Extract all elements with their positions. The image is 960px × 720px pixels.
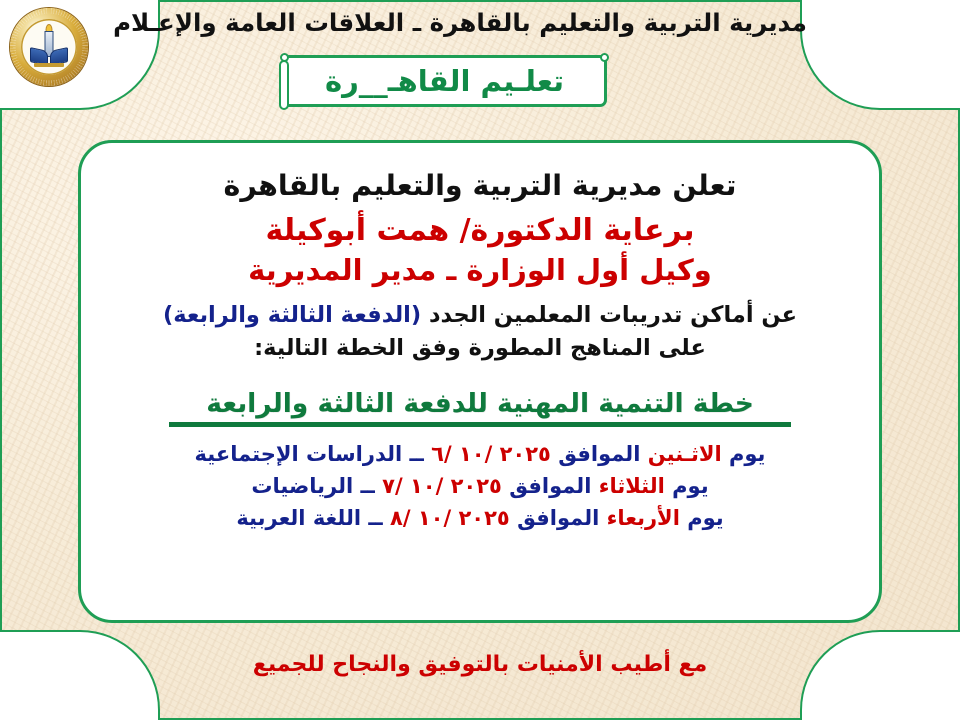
header-strip: مديرية التربية والتعليم بالقاهرة ـ العلا… [0, 0, 960, 58]
emblem-base-bar [34, 63, 64, 67]
plan-heading: خطة التنمية المهنية للدفعة الثالثة والرا… [206, 388, 754, 419]
schedule-row-dash: ــ [368, 506, 382, 530]
page-title: تعلـيم القاهـ__رة [325, 64, 564, 98]
schedule-row: يوم الاثـنين الموافق ٢٠٢٥ /١٠ /٦ ــ الدر… [81, 439, 879, 471]
schedule-row-prefix: يوم [729, 442, 765, 466]
footer-wish-line: مع أطيب الأمنيات بالتوفيق والنجاح للجميع [0, 652, 960, 677]
body-content: تعلن مديرية التربية والتعليم بالقاهرة بر… [81, 169, 879, 535]
schedule-row-subject: الرياضيات [251, 474, 353, 498]
schedule-row-date: ٢٠٢٥ /١٠ /٨ [390, 506, 510, 530]
schedule-row-day: الثلاثاء [599, 474, 665, 498]
content-panel: تعلن مديرية التربية والتعليم بالقاهرة بر… [78, 140, 882, 623]
title-plate: تعلـيم القاهـ__رة [282, 55, 607, 107]
schedule-row-date: ٢٠٢٥ /١٠ /٧ [382, 474, 502, 498]
schedule-list: يوم الاثـنين الموافق ٢٠٢٥ /١٠ /٦ ــ الدر… [81, 439, 879, 535]
announcement-line: تعلن مديرية التربية والتعليم بالقاهرة [81, 169, 879, 203]
schedule-row-dash: ــ [409, 442, 423, 466]
schedule-row-subject: اللغة العربية [236, 506, 361, 530]
patron-line: برعاية الدكتورة/ همت أبوكيلة [81, 213, 879, 250]
schedule-row-mid: الموافق [558, 442, 640, 466]
announcement-poster: مديرية التربية والتعليم بالقاهرة ـ العلا… [0, 0, 960, 720]
plan-heading-block: خطة التنمية المهنية للدفعة الثالثة والرا… [81, 388, 879, 427]
emblem-inner-disc [21, 19, 77, 75]
department-title: مديرية التربية والتعليم بالقاهرة ـ العلا… [0, 8, 960, 37]
schedule-row-mid: الموافق [517, 506, 599, 530]
schedule-row-prefix: يوم [672, 474, 708, 498]
schedule-row-day: الأربعاء [607, 506, 680, 530]
about-line: عن أماكن تدريبات المعلمين الجدد (الدفعة … [81, 301, 879, 329]
schedule-row: يوم الأربعاء الموافق ٢٠٢٥ /١٠ /٨ ــ اللغ… [81, 503, 879, 535]
schedule-row-dash: ــ [360, 474, 374, 498]
schedule-row: يوم الثلاثاء الموافق ٢٠٢٥ /١٠ /٧ ــ الري… [81, 471, 879, 503]
patron-role-line: وكيل أول الوزارة ـ مدير المديرية [81, 253, 879, 288]
schedule-row-prefix: يوم [687, 506, 723, 530]
about-line-batch: (الدفعة الثالثة والرابعة) [163, 302, 421, 328]
ministry-emblem-icon [10, 8, 88, 86]
curriculum-line: على المناهج المطورة وفق الخطة التالية: [81, 334, 879, 362]
about-line-prefix: عن أماكن تدريبات المعلمين الجدد [421, 302, 797, 328]
schedule-row-mid: الموافق [509, 474, 591, 498]
title-plate-spine [279, 60, 289, 110]
schedule-row-date: ٢٠٢٥ /١٠ /٦ [431, 442, 551, 466]
schedule-row-day: الاثـنين [648, 442, 722, 466]
schedule-row-subject: الدراسات الإجتماعية [195, 442, 403, 466]
plan-heading-underline [169, 422, 791, 427]
